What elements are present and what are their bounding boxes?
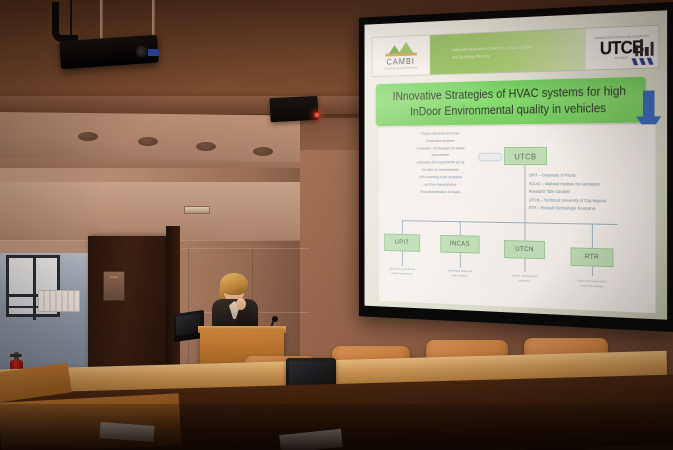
ceiling-vent	[196, 142, 216, 151]
wall-speaker	[269, 96, 318, 122]
left-wall-upper-band	[0, 182, 312, 240]
list-item: Final dissemination of results	[387, 189, 495, 197]
diagram-node-incas: INCAS	[440, 235, 479, 254]
diagram-edge	[524, 222, 525, 240]
diagram-edge	[402, 251, 403, 266]
cambi-logo: CAMBI Centrul de Cercetari Avansate	[373, 35, 431, 76]
diagram-node-utcn: UTCN	[504, 240, 545, 259]
slide-body: Project objectives and scope Consortium …	[379, 124, 655, 313]
slide-title-line-2: InDoor Environmental quality in vehicles	[410, 100, 606, 120]
diagram-edge	[524, 259, 525, 272]
slide-header-band: National Research Center for Indoor Qual…	[430, 29, 584, 75]
diagram-edge	[460, 253, 461, 268]
cambi-logo-tagline: Centrul de Cercetari Avansate	[384, 66, 417, 70]
presenter-hair	[220, 273, 248, 295]
diagram-node-root: UTCB	[504, 147, 547, 165]
diagram-edge	[592, 224, 593, 248]
cambi-logo-word: CAMBI	[387, 56, 415, 66]
diagram-edge	[592, 266, 593, 276]
projection-screen-surface: CAMBI Centrul de Cercetari Avansate Nati…	[364, 10, 667, 319]
wall-plaque	[184, 206, 210, 214]
diagram-node-upit: UPIT	[384, 234, 420, 252]
ceiling-vent	[253, 147, 273, 156]
projector-label-tag	[148, 49, 159, 56]
corridor-radiator	[38, 290, 80, 312]
legend-entry: UPIT – University of Pitesti	[529, 172, 667, 181]
diagram-legend: UPIT – University of Pitesti INCAS – Nat…	[529, 172, 667, 215]
utcb-logo-bottom-text: BUCURESTI	[615, 57, 628, 60]
presenter-hand	[236, 298, 246, 310]
diagram-coordinator-stub	[478, 153, 502, 162]
diagram-leaf-note: Aerodynamic testing and instrumentation	[445, 268, 474, 279]
legend-entry: RTR – Renault Technologie Roumanie	[529, 205, 667, 215]
presentation-slide: CAMBI Centrul de Cercetari Avansate Nati…	[364, 10, 667, 319]
utcb-chevron-icon	[631, 58, 656, 66]
diagram-edge	[460, 221, 461, 235]
slide-title-banner: INnovative Strategies of HVAC systems fo…	[376, 77, 646, 126]
diagram-edge	[402, 220, 617, 225]
diagram-leaf-note: Cabin mock-up and thermal comfort measur…	[388, 267, 416, 278]
diagram-leaf-note: Sensors, data acquisition and control	[509, 273, 539, 284]
microphone-icon	[272, 316, 278, 322]
monitor-screen	[289, 361, 333, 386]
projector-lens-icon	[136, 46, 148, 58]
utcb-logo: UNIVERSITATEA TEHNICA DE CONSTRUCTII UTC…	[584, 26, 658, 70]
power-indicator-led-icon	[314, 112, 320, 118]
door-notice-sign: notice	[103, 271, 125, 301]
ceiling-vent	[78, 132, 98, 141]
slide-header: CAMBI Centrul de Cercetari Avansate Nati…	[372, 25, 660, 77]
diagram-edge	[524, 165, 525, 222]
diagram-leaf-note: Design of the vehicle HVAC system and va…	[576, 279, 608, 291]
cambi-roof-icon	[383, 42, 418, 57]
utcb-skyline-icon	[633, 36, 654, 57]
slide-bullet-list: Project objectives and scope Consortium …	[387, 130, 495, 197]
diagram-node-rtr: RTR	[571, 247, 614, 267]
foreground-shadow	[0, 404, 673, 450]
lecture-hall-photo: notice CAMBI Centrul de Cerceta	[0, 0, 673, 450]
projector-bracket	[52, 2, 78, 42]
ceiling-vent	[138, 137, 158, 146]
projection-screen: CAMBI Centrul de Cercetari Avansate Nati…	[359, 2, 673, 332]
diagram-edge	[402, 220, 403, 234]
